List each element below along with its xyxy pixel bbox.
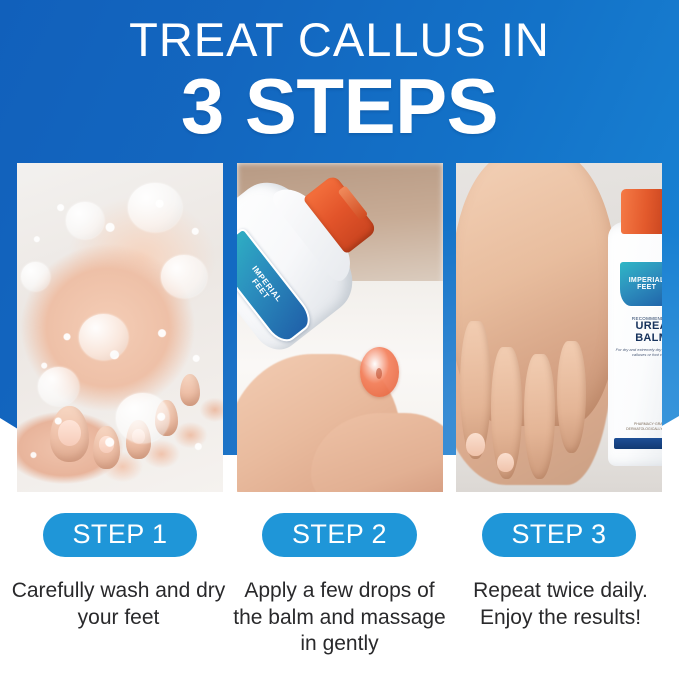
step-3-badge[interactable]: STEP 3 [482, 513, 637, 557]
brand-name-line2: FEET [637, 284, 656, 291]
bottle-cap [621, 189, 662, 233]
fingernail-2 [497, 453, 513, 473]
bottle-bottom-band [614, 438, 662, 449]
step-2-caption: Apply a few drops of the balm and massag… [229, 578, 450, 674]
step-1-caption: Carefully wash and dry your feet [8, 578, 229, 674]
product-name-line2: BALM [615, 333, 662, 345]
step-1-photo [17, 163, 223, 492]
step-2-pill-wrap: STEP 2 [237, 512, 443, 558]
bottle-label-text: RECOMMENDED UREA BALM For dry and extrem… [615, 316, 662, 357]
title-line-1: TREAT CALLUS IN [0, 16, 679, 63]
infographic-canvas: TREAT CALLUS IN 3 STEPS [0, 0, 679, 679]
foam-blob-6 [116, 393, 170, 442]
step-1-badge[interactable]: STEP 1 [43, 513, 198, 557]
foam-blob-3 [161, 255, 206, 298]
foam-blob-7 [21, 262, 50, 292]
caption-row: Carefully wash and dry your feet Apply a… [0, 578, 679, 674]
page-title: TREAT CALLUS IN 3 STEPS [0, 16, 679, 145]
step-3-caption: Repeat twice daily. Enjoy the results! [450, 578, 671, 674]
foam-blob-1 [128, 183, 182, 232]
step-2-badge[interactable]: STEP 2 [262, 513, 417, 557]
foam-blob-2 [66, 202, 103, 238]
step-3-photo: IMPERIAL FEET RECOMMENDED UREA BALM For … [456, 163, 662, 492]
bottle-footer-text: PHARMACY·GRADE | DERMATOLOGICALLY TESTED [617, 422, 662, 433]
product-description: For dry and extremely dry skin in case o… [615, 347, 662, 358]
urea-balm-bottle: IMPERIAL FEET RECOMMENDED UREA BALM For … [608, 189, 662, 465]
title-line-2: 3 STEPS [0, 67, 679, 145]
brand-shield-logo: IMPERIAL FEET [619, 261, 662, 307]
brand-name-line1: IMPERIAL [629, 277, 662, 284]
balm-drop [360, 347, 399, 396]
step-pill-row: STEP 1 STEP 2 STEP 3 [17, 512, 662, 558]
fingernail-1 [466, 433, 485, 456]
step-3-pill-wrap: STEP 3 [456, 512, 662, 558]
foam-blob-5 [38, 367, 79, 406]
finger-4 [557, 341, 586, 453]
photo-row: IMPERIALFEET IMPERIAL FEET [17, 163, 662, 492]
step-2-photo: IMPERIALFEET [237, 163, 443, 492]
step-1-pill-wrap: STEP 1 [17, 512, 223, 558]
finger-3 [524, 354, 555, 479]
foam-band-top [21, 176, 219, 255]
